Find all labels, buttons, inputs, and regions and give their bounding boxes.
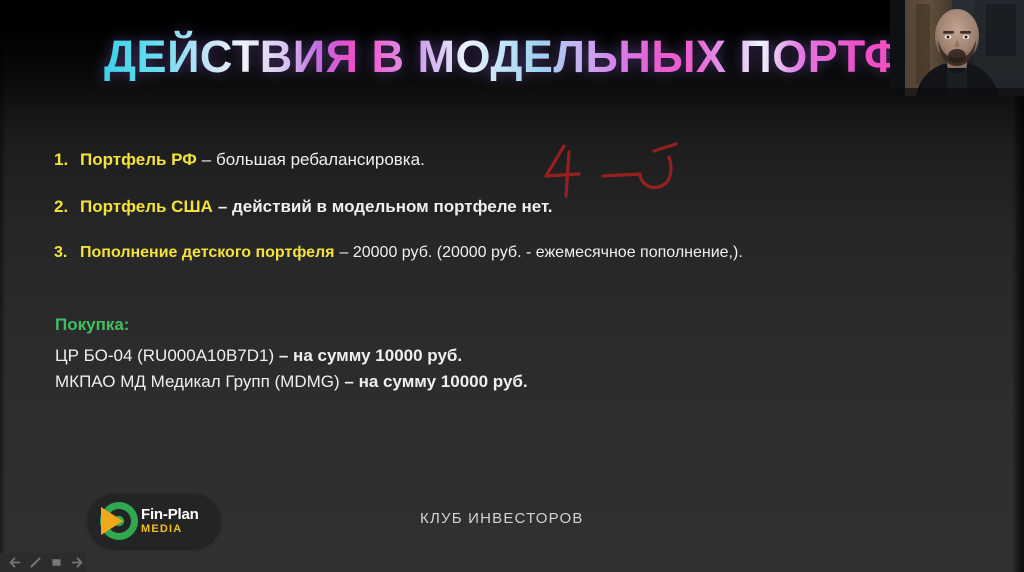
list-item-rest: – действий в модельном портфеле нет. <box>218 197 553 217</box>
logo-secondary-text: MEDIA <box>141 524 199 535</box>
play-circle-icon <box>95 499 139 543</box>
logo-primary-text: Fin-Plan <box>141 507 199 522</box>
slide-title-container: ДЕЙСТВИЯ В МОДЕЛЬНЫХ ПОРТФЕЛЯХ <box>104 28 924 86</box>
list-item-lead: Пополнение детского портфеля <box>80 244 335 262</box>
slide-body: 1. Портфель РФ – большая ребалансировка.… <box>54 150 984 262</box>
logo-mark <box>95 499 139 543</box>
list-item-rest: – 20000 руб. (20000 руб. - ежемесячное п… <box>340 244 743 262</box>
left-edge-shadow <box>0 0 6 572</box>
list-item: 3. Пополнение детского портфеля – 20000 … <box>54 244 984 262</box>
list-item-number: 2. <box>54 197 80 217</box>
purchase-line: ЦР БО-04 (RU000A10B7D1) – на сумму 10000… <box>55 343 528 369</box>
page-title: ДЕЙСТВИЯ В МОДЕЛЬНЫХ ПОРТФЕЛЯХ <box>104 28 924 86</box>
footer-caption: КЛУБ ИНВЕСТОРОВ <box>420 510 584 527</box>
list-item-number: 1. <box>54 150 80 170</box>
purchase-instrument-name: МКПАО МД Медикал Групп (MDMG) <box>55 372 340 391</box>
list-item: 2. Портфель США – действий в модельном п… <box>54 197 984 217</box>
purchase-amount: – на сумму 10000 руб. <box>279 346 462 365</box>
purchase-amount: – на сумму 10000 руб. <box>344 372 527 391</box>
list-item-rest: – большая ребалансировка. <box>202 150 425 170</box>
purchase-block: Покупка: ЦР БО-04 (RU000A10B7D1) – на су… <box>55 315 528 395</box>
presenter-webcam[interactable] <box>890 0 1024 96</box>
list-item-lead: Портфель США <box>80 197 213 217</box>
stop-square-icon[interactable] <box>50 556 63 569</box>
annotation-toolbar[interactable] <box>0 553 86 572</box>
webcam-video-frame <box>890 0 1024 96</box>
purchase-heading: Покупка: <box>55 315 528 335</box>
list-item: 1. Портфель РФ – большая ребалансировка. <box>54 150 984 170</box>
purchase-instrument-name: ЦР БО-04 (RU000A10B7D1) <box>55 346 274 365</box>
list-item-lead: Портфель РФ <box>80 150 197 170</box>
forward-arrow-icon[interactable] <box>71 556 84 569</box>
presentation-screen: ДЕЙСТВИЯ В МОДЕЛЬНЫХ ПОРТФЕЛЯХ 1. Портфе… <box>0 0 1024 572</box>
purchase-line: МКПАО МД Медикал Групп (MDMG) – на сумму… <box>55 369 528 395</box>
list-item-number: 3. <box>54 244 80 262</box>
back-arrow-icon[interactable] <box>8 556 21 569</box>
logo-text: Fin-Plan MEDIA <box>141 507 199 535</box>
fin-plan-logo: Fin-Plan MEDIA <box>88 494 220 548</box>
pen-icon[interactable] <box>29 556 42 569</box>
